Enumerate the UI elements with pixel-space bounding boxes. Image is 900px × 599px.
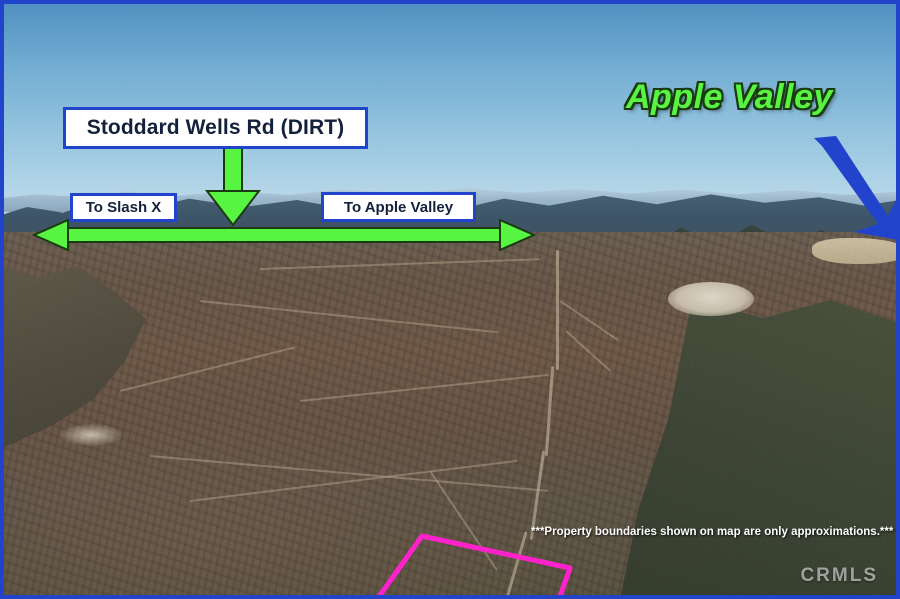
- diagonal-arrow-icon: [808, 136, 900, 246]
- photo-annotation-viewer: Stoddard Wells Rd (DIRT) To Slash X To A…: [0, 0, 900, 599]
- property-boundary-polygon: [370, 530, 590, 599]
- crmls-watermark: CRMLS: [800, 565, 878, 587]
- direction-left-label: To Slash X: [70, 193, 177, 222]
- direction-right-label: To Apple Valley: [321, 192, 476, 222]
- secondary-bare-patch: [60, 424, 122, 446]
- road-main-vertical: [556, 250, 559, 370]
- down-arrow-icon: [203, 147, 263, 227]
- apple-valley-title: Apple Valley: [626, 78, 833, 117]
- double-headed-arrow-icon: [32, 219, 536, 251]
- road-label-box: Stoddard Wells Rd (DIRT): [63, 107, 368, 149]
- quarry-patch: [668, 282, 754, 316]
- boundary-disclaimer-text: ***Property boundaries shown on map are …: [531, 526, 893, 538]
